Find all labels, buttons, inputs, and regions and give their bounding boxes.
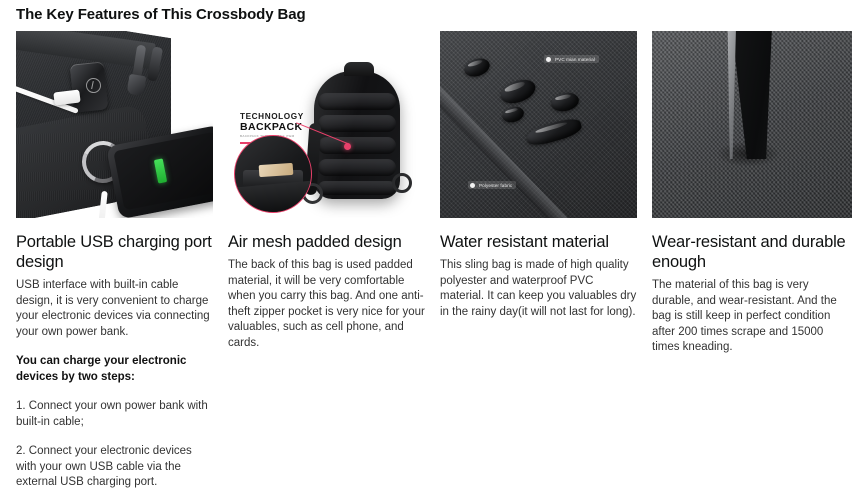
feature-step-1: 1. Connect your own power bank with buil… xyxy=(16,399,213,430)
feature-paragraph: USB interface with built-in cable design… xyxy=(16,278,213,340)
page-title: The Key Features of This Crossbody Bag xyxy=(16,6,306,23)
label-bullet-icon xyxy=(470,183,475,188)
brand-line-2: BACKPACK xyxy=(240,122,316,133)
feature-image-air-mesh-padded-design: TECHNOLOGY BACKPACK BACKPACK TECHNOLOGY … xyxy=(228,31,425,218)
padded-panel xyxy=(318,181,396,195)
image-label-pvc: PVC mian material xyxy=(544,55,599,63)
label-bullet-icon xyxy=(546,57,551,62)
feature-columns: Portable USB charging port design USB in… xyxy=(16,31,844,491)
feature-image-wear-resistant-durable xyxy=(652,31,852,218)
feature-section: The Key Features of This Crossbody Bag xyxy=(0,0,860,467)
feature-paragraph: The back of this bag is used padded mate… xyxy=(228,258,425,351)
image-label-polyester-text: Polyester fabric xyxy=(479,183,512,188)
image-label-pvc-text: PVC mian material xyxy=(555,57,595,62)
feature-step-2: 2. Connect your electronic devices with … xyxy=(16,444,213,491)
feature-image-usb-charging-port xyxy=(16,31,213,218)
image-label-polyester: Polyester fabric xyxy=(468,181,516,189)
brand-line-1: TECHNOLOGY xyxy=(240,113,316,121)
feature-heading: Water resistant material xyxy=(440,232,637,252)
padded-panel xyxy=(318,93,396,110)
pocket-phone xyxy=(259,163,294,177)
feature-steps-intro: You can charge your electronic devices b… xyxy=(16,354,213,385)
feature-card-wear-resistant-durable: Wear-resistant and durable enough The ma… xyxy=(652,31,852,491)
padded-panel xyxy=(318,137,396,154)
water-droplet xyxy=(500,104,525,124)
callout-zoom-circle xyxy=(234,135,312,213)
water-droplet xyxy=(462,55,492,79)
water-droplet xyxy=(497,75,538,107)
padded-panel xyxy=(318,159,396,176)
padded-panel xyxy=(318,115,396,132)
feature-image-water-resistant-material: PVC mian material Polyester fabric xyxy=(440,31,637,218)
feature-card-water-resistant-material: PVC mian material Polyester fabric Water… xyxy=(440,31,637,491)
callout-dot-icon xyxy=(344,143,351,150)
strap-loop-icon xyxy=(392,173,412,193)
feature-paragraph: This sling bag is made of high quality p… xyxy=(440,258,637,320)
blade-body xyxy=(730,31,772,159)
blade-edge xyxy=(724,31,736,159)
feature-heading: Portable USB charging port design xyxy=(16,232,213,272)
water-droplet xyxy=(525,116,584,149)
feature-paragraph: The material of this bag is very durable… xyxy=(652,278,852,356)
feature-heading: Air mesh padded design xyxy=(228,232,425,252)
feature-heading: Wear-resistant and durable enough xyxy=(652,232,852,272)
feature-card-usb-charging-port: Portable USB charging port design USB in… xyxy=(16,31,213,491)
feature-card-air-mesh-padded-design: TECHNOLOGY BACKPACK BACKPACK TECHNOLOGY … xyxy=(228,31,425,491)
water-droplet xyxy=(549,90,580,113)
